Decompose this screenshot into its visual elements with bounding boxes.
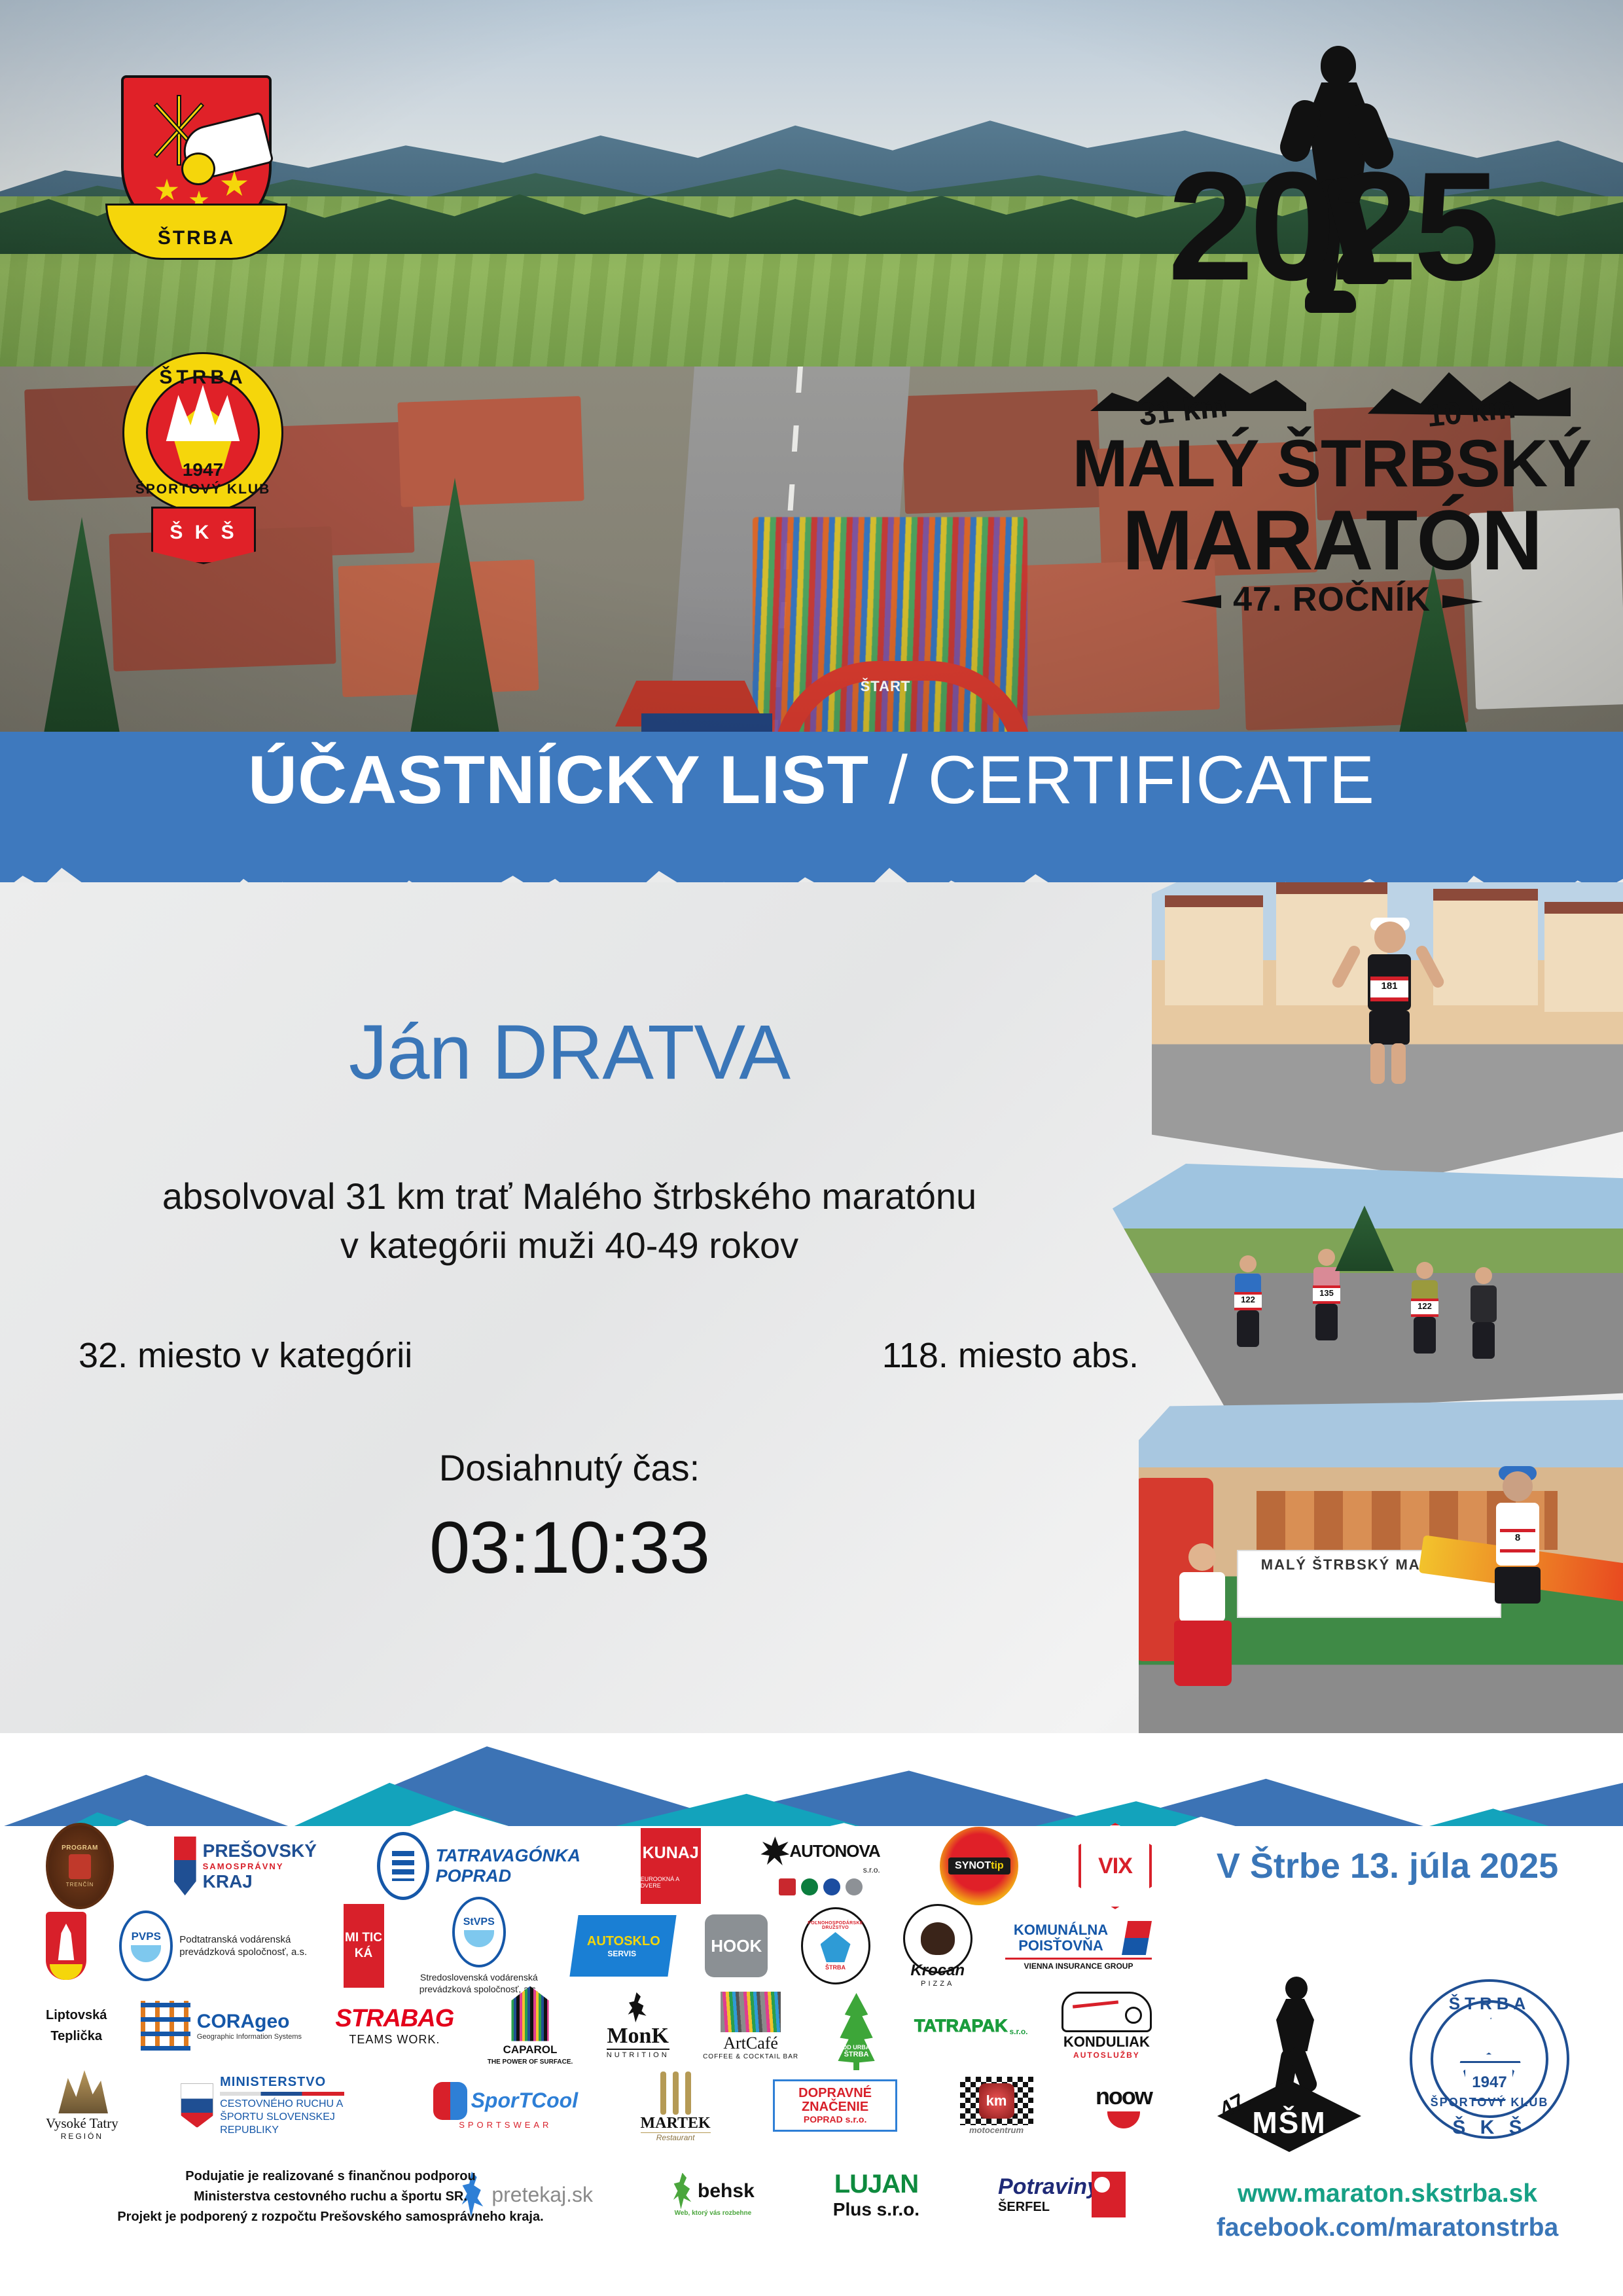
sponsor-tatravagonka-poprad[interactable]: TATRAVAGÓNKA POPRAD [377, 1832, 580, 1900]
sponsor-sublabel: Restaurant [641, 2132, 711, 2142]
female-runner: 181 [1348, 922, 1427, 1085]
sponsor-autosklo-servis[interactable]: AUTOSKLO SERVIS [574, 1915, 672, 1977]
sks-top-label: ŠTRBA [122, 367, 283, 389]
event-name-line2: MARATÓN [1060, 491, 1603, 589]
title-separator: / [869, 742, 928, 818]
facebook-link[interactable]: facebook.com/maratonstrba [1171, 2214, 1603, 2242]
sponsor-potraviny-serfel[interactable]: Potraviny ŠERFEL [998, 2172, 1126, 2217]
sponsor-label2: Teplička [46, 2026, 107, 2047]
msm-47-logo: 47. MŠM [1211, 1977, 1368, 2153]
sponsor-sportcool[interactable]: SporTCool SPORTSWEAR [433, 2082, 579, 2130]
male-winner: 8 [1479, 1471, 1558, 1687]
sponsor-tatrapak[interactable]: TATRAPAK s.r.o. [914, 2016, 1028, 2036]
sponsor-krocan-pizza[interactable]: Krocan PIZZA [903, 1904, 972, 1988]
sponsor-lujan-plus[interactable]: LUJAN Plus s.r.o. [833, 2170, 919, 2220]
sponsor-sublabel: motocentrum [960, 2125, 1033, 2135]
sponsor-vysoke-tatry-region[interactable]: Vysoké Tatry REGIÓN [46, 2070, 118, 2141]
sponsor-sublabel: THE POWER OF SURFACE. [488, 2058, 573, 2066]
sponsor-label: SporTCool [471, 2089, 579, 2113]
time-label: Dosiahnutý čas: [39, 1446, 1099, 1489]
photo-finish-line: MALÝ ŠTRBSKÝ MARATÓN 8 [1139, 1399, 1623, 1733]
description-line-2: v kategórii muži 40-49 rokov [39, 1221, 1099, 1270]
bib-number: 181 [1370, 977, 1408, 1001]
photo-female-finisher: 181 [1152, 882, 1623, 1177]
sks-bottom-label: ŠPORTOVÝ KLUB [122, 482, 283, 497]
sponsor-sublabel: CESTOVNÉHO RUCHU A ŠPORTU SLOVENSKEJ REP… [220, 2098, 370, 2137]
sponsor-sublabel: COFFEE & COCKTAIL BAR [703, 2053, 798, 2060]
sponsor-label: VIX [1098, 1854, 1132, 1879]
sponsor-label: TATRAPAK [914, 2016, 1007, 2036]
sponsor-sublabel: Plus s.r.o. [833, 2199, 919, 2220]
sponsor-martek-restaurant[interactable]: MARTEK Restaurant [641, 2069, 711, 2142]
website-link[interactable]: www.maraton.skstrba.sk [1171, 2179, 1603, 2208]
sponsor-beh-sk[interactable]: behsk Web, ktorý vás rozbehne [671, 2173, 755, 2217]
msm-mark: MŠM [1217, 2105, 1361, 2140]
sponsor-sublabel: EUROOKNÁ A DVERE [641, 1876, 701, 1889]
sponsor-label: STRABAG [335, 2005, 454, 2033]
bib-number: 8 [1500, 1529, 1535, 1552]
sponsor-konduliak[interactable]: KONDULIAK AUTOSLUŽBY [1061, 1992, 1152, 2060]
sponsor-label: HOOK [711, 1936, 762, 1956]
sponsor-label: CORAgeo [197, 2011, 302, 2033]
hero-photo: ŠTART ŠTRBA ŠTRBA 1947 ŠPO [0, 0, 1623, 759]
sponsor-sublabel: Geographic Information Systems [197, 2033, 302, 2041]
sponsor-label: noow [1096, 2083, 1152, 2110]
sponsor-artcafe[interactable]: ArtCafé COFFEE & COCKTAIL BAR [703, 1992, 798, 2060]
sponsor-label: km [986, 2092, 1007, 2109]
sponsor-ministerstvo[interactable]: MINISTERSTVO CESTOVNÉHO RUCHU A ŠPORTU S… [181, 2075, 370, 2137]
sponsor-vix[interactable]: VIX [1079, 1823, 1152, 1909]
sponsor-label: KOMUNÁLNA POISŤOVŇA [1005, 1922, 1116, 1954]
sponsor-label: StVPS [463, 1916, 495, 1928]
sponsor-sublabel: ŠTRBA [832, 2051, 881, 2058]
sponsor-miticka[interactable]: MI TIC KÁ [344, 1904, 384, 1988]
category-placement: 32. miesto v kategórii [79, 1335, 497, 1376]
sks-club-logo: ŠTRBA 1947 ŠPORTOVÝ KLUB Š K Š [108, 347, 298, 563]
stamp-mid-label: ŠPORTOVÝ KLUB [1410, 2096, 1569, 2109]
sponsor-sublabel: REGIÓN [46, 2132, 118, 2141]
title-bold-part: ÚČASTNÍCKY LIST [248, 742, 869, 818]
funding-note: Podujatie je realizované s finančnou pod… [59, 2166, 602, 2227]
sponsor-sublabel: SERVIS [607, 1949, 636, 1958]
sks-banner: Š K Š [151, 507, 256, 564]
sponsor-label: PVPS [132, 1930, 161, 1943]
sponsor-sublabel: tip [991, 1860, 1004, 1871]
sponsor-label2: KRAJ [203, 1871, 317, 1892]
sponsor-row: Liptovská Teplička CORAgeo Geographic In… [46, 1986, 1152, 2066]
distance-row: 31 km 10 km [1060, 353, 1603, 432]
strba-coat-of-arms-logo: ŠTRBA [121, 75, 272, 272]
title-light-part: CERTIFICATE [928, 742, 1375, 818]
sponsor-pd-strba[interactable]: POĽNOHOSPODÁRSKE DRUŽSTVO ŠTRBA [801, 1907, 870, 1984]
sponsor-sublabel: s.r.o. [760, 1865, 880, 1874]
issue-date: V Štrbe 13. júla 2025 [1171, 1846, 1603, 1886]
event-edition-row: 47. ROČNÍK [1060, 580, 1603, 619]
bib-number: 135 [1313, 1285, 1340, 1304]
absolute-placement: 118. miesto abs. [628, 1335, 1139, 1376]
sponsor-label: PREŠOVSKÝ [203, 1840, 317, 1861]
bib-number: 122 [1411, 1299, 1438, 1317]
funding-note-line-1: Podujatie je realizované s finančnou pod… [59, 2166, 602, 2187]
sponsor-autonova[interactable]: AUTONOVA s.r.o. [760, 1837, 880, 1895]
sponsor-pvps[interactable]: PVPS Podtatranská vodárenská prevádzková… [119, 1910, 310, 1981]
sponsor-sublabel: ŠERFEL [998, 2200, 1099, 2215]
sponsor-label: SYNOT [955, 1860, 991, 1871]
photo-collage: 181 122 135 122 [1113, 882, 1623, 1733]
finish-time: 03:10:33 [39, 1505, 1099, 1590]
sponsor-label: ArtCafé [703, 2034, 798, 2053]
sponsor-label: Krocan [903, 1962, 972, 1980]
event-edition: 47. ROČNÍK [1233, 581, 1431, 619]
sponsor-label: POD URBÁN [832, 2044, 881, 2051]
photo-runners-hillside: 122 135 122 [1113, 1164, 1623, 1412]
sponsor-liptovska-teplicka-label[interactable]: Liptovská Teplička [46, 2005, 107, 2047]
sponsor-label: Vysoké Tatry [46, 2115, 118, 2132]
stamp-year: 1947 [1410, 2073, 1569, 2092]
sponsor-row: PVPS Podtatranská vodárenská prevádzková… [46, 1906, 1152, 1986]
stamp-bottom-label: Š K Š [1410, 2117, 1569, 2139]
sponsor-label: TATRAVAGÓNKA [436, 1846, 580, 1866]
sponsor-sublabel: PIZZA [903, 1980, 972, 1988]
sponsor-sublabel: TEAMS WORK. [335, 2033, 454, 2047]
sponsor-pod-urban-strba[interactable]: POD URBÁN ŠTRBA [832, 1993, 881, 2058]
sponsor-label: DOPRAVNÉ ZNAČENIE [783, 2087, 887, 2114]
event-year: 2025 [1060, 164, 1603, 291]
sponsor-km-motocentrum[interactable]: km motocentrum [960, 2077, 1033, 2135]
sponsor-label: AUTONOVA [789, 1841, 880, 1861]
sponsor-corageo[interactable]: CORAgeo Geographic Information Systems [141, 2001, 302, 2051]
sponsor-label: MARTEK [641, 2115, 711, 2132]
sponsor-label: MonK [607, 2024, 669, 2049]
sponsor-label: MI TIC KÁ [344, 1930, 384, 1962]
sponsor-sublabel: POPRAD s.r.o. [783, 2114, 887, 2125]
sponsor-liptovska-teplicka-crest[interactable] [46, 1912, 86, 1980]
sponsor-label: behsk [698, 2180, 755, 2202]
sponsor-dopravne-znacenie[interactable]: DOPRAVNÉ ZNAČENIE POPRAD s.r.o. [773, 2079, 897, 2132]
sks-banner-label: Š K Š [153, 522, 254, 544]
sponsor-sublabel: POPRAD [436, 1866, 580, 1886]
sponsor-label: Liptovská [46, 2005, 107, 2026]
sponsor-label: KONDULIAK [1061, 2034, 1152, 2051]
sponsor-strabag[interactable]: STRABAG TEAMS WORK. [335, 2005, 454, 2047]
sponsor-label: PROGRAM [62, 1844, 98, 1852]
sponsor-sublabel: TRENČÍN [66, 1882, 94, 1888]
arrow-right-icon [1442, 595, 1483, 608]
sponsor-sublabel: SPORTSWEAR [433, 2120, 579, 2130]
folk-costume-girl [1168, 1543, 1240, 1687]
sponsor-caparol[interactable]: CAPAROL THE POWER OF SURFACE. [488, 1986, 573, 2066]
bib-number: 122 [1234, 1292, 1262, 1310]
sponsor-sublabel: AUTOSLUŽBY [1061, 2051, 1152, 2060]
sponsor-row: PROGRAM TRENČÍN PREŠOVSKÝ SAMOSPRÁVNY KR… [46, 1826, 1152, 1906]
sponsor-label: LUJAN [833, 2170, 919, 2199]
sponsor-hook[interactable]: HOOK [705, 1914, 768, 1977]
sponsor-label: Potraviny [998, 2174, 1099, 2200]
sponsor-kunaj[interactable]: KUNAJ EUROOKNÁ A DVERE [641, 1828, 701, 1904]
crest-cuff-icon [181, 152, 215, 185]
sponsor-monk-nutrition[interactable]: MonK NUTRITION [607, 1992, 669, 2059]
sponsor-sublabel: VIENNA INSURANCE GROUP [1005, 1958, 1152, 1971]
certificate-page: ŠTART ŠTRBA ŠTRBA 1947 ŠPO [0, 0, 1623, 2296]
crest-label: ŠTRBA [105, 227, 287, 249]
sponsor-komunalna-poistovna[interactable]: KOMUNÁLNA POISŤOVŇA VIENNA INSURANCE GRO… [1005, 1921, 1152, 1971]
sponsor-noow[interactable]: noow [1096, 2083, 1152, 2128]
sponsor-row: Vysoké Tatry REGIÓN MINISTERSTVO CESTOVN… [46, 2066, 1152, 2145]
certificate-title: ÚČASTNÍCKY LIST / CERTIFICATE [0, 746, 1623, 814]
athlete-name: Ján DRATVA [39, 1008, 1099, 1097]
sks-stamp-logo: ŠTRBA 1947 ŠPORTOVÝ KLUB Š K Š [1400, 1977, 1577, 2153]
sponsor-sublabel: NUTRITION [607, 2049, 669, 2059]
footer: PROGRAM TRENČÍN PREŠOVSKÝ SAMOSPRÁVNY KR… [0, 1826, 1623, 2296]
sponsor-label: KUNAJ [643, 1844, 699, 1863]
sponsor-synot-tip[interactable]: SYNOTtip [940, 1827, 1018, 1905]
sponsor-label: POĽNOHOSPODÁRSKE DRUŽSTVO [806, 1921, 866, 1930]
sponsor-sublabel: SAMOSPRÁVNY [203, 1861, 317, 1871]
sponsor-label: AUTOSKLO [587, 1934, 660, 1949]
sponsor-label: CAPAROL [488, 2043, 573, 2056]
sponsor-sublabel: Web, ktorý vás rozbehne [671, 2210, 755, 2217]
stamp-top-label: ŠTRBA [1410, 1994, 1569, 2014]
sponsor-stvps[interactable]: StVPS Stredoslovenská vodárenská prevádz… [417, 1897, 541, 1995]
sponsor-label: MINISTERSTVO [220, 2075, 370, 2090]
achievement-description: absolvoval 31 km trať Malého štrbského m… [39, 1172, 1099, 1270]
funding-note-line-2: Ministerstva cestovného ruchu a športu S… [59, 2187, 602, 2207]
description-line-1: absolvoval 31 km trať Malého štrbského m… [39, 1172, 1099, 1221]
sponsor-sublabel: ŠTRBA [825, 1964, 846, 1971]
arrow-left-icon [1181, 595, 1221, 608]
sponsor-sublabel: Podtatranská vodárenská prevádzková spol… [179, 1933, 310, 1959]
sponsor-program-trencin[interactable]: PROGRAM TRENČÍN [46, 1823, 114, 1909]
event-title-lockup: 2025 31 km 10 km MALÝ ŠTRBSKÝ MARATÓN 47… [1060, 39, 1603, 583]
sponsor-sublabel: s.r.o. [1009, 2027, 1027, 2036]
sks-year-label: 1947 [122, 459, 283, 480]
funding-note-line-3: Projekt je podporený z rozpočtu Prešovsk… [59, 2207, 602, 2227]
sponsor-presovsky-kraj[interactable]: PREŠOVSKÝ SAMOSPRÁVNY KRAJ [174, 1837, 317, 1895]
